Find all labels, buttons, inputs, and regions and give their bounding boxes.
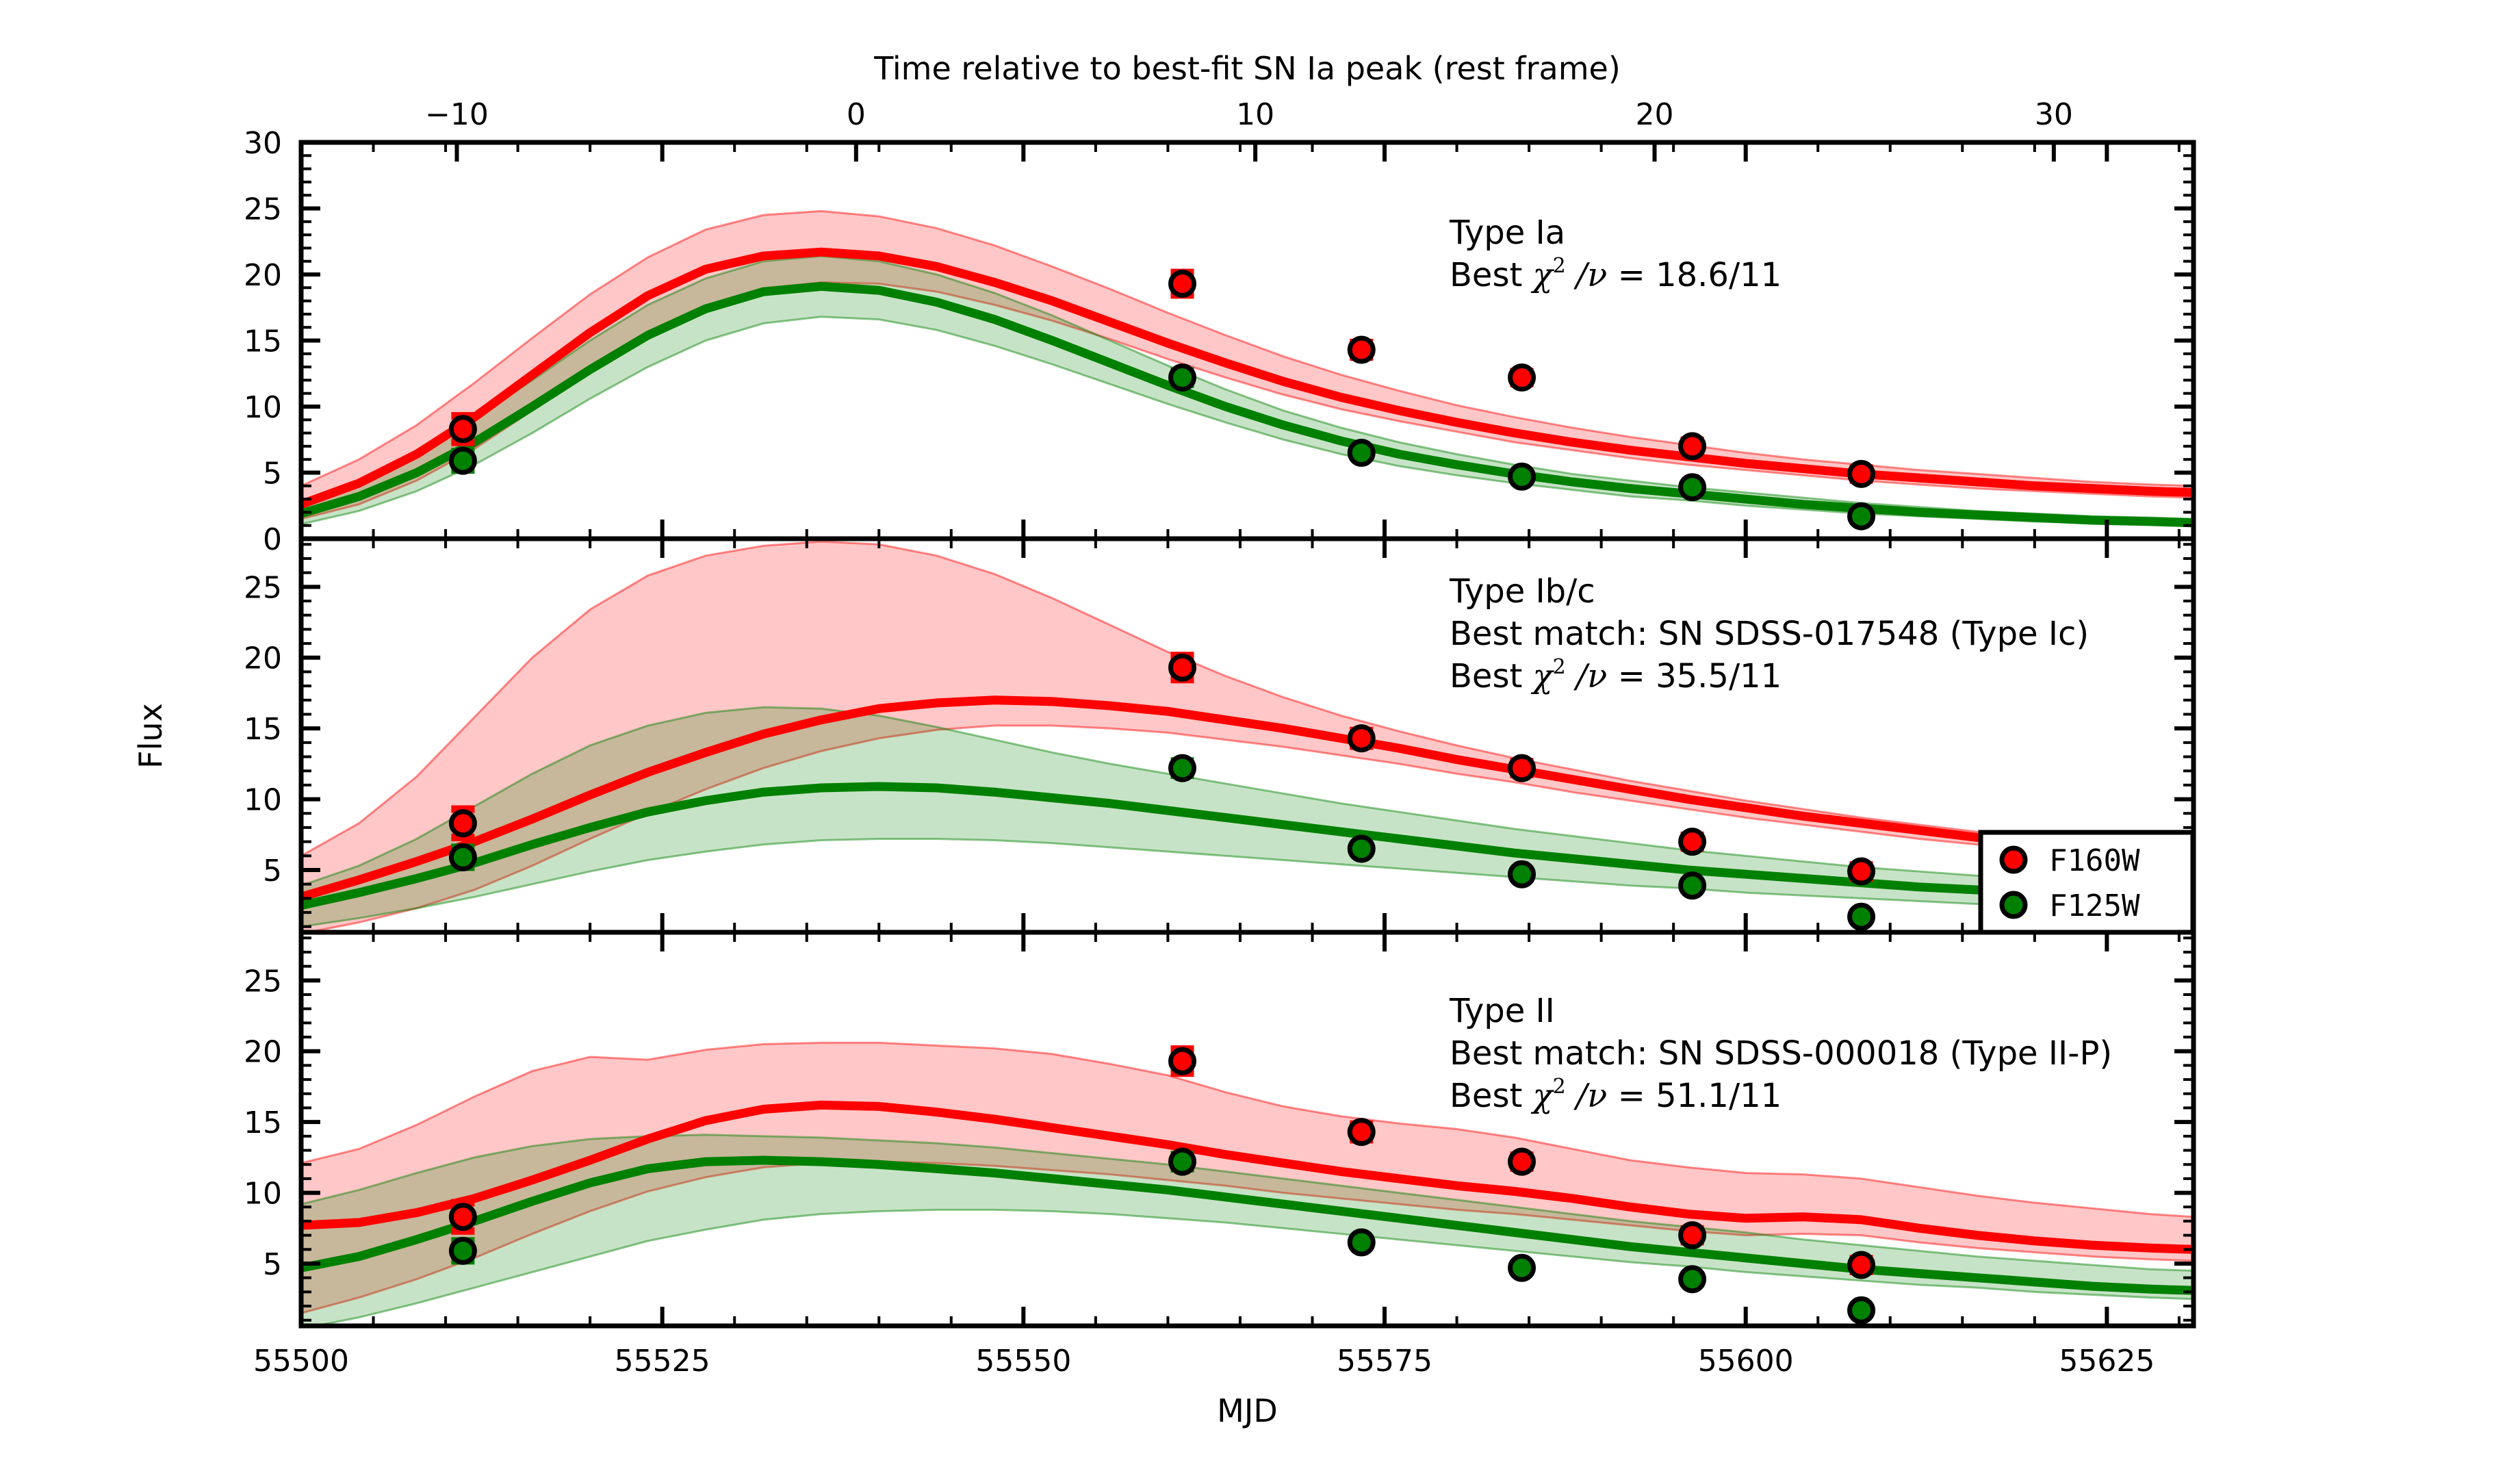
y-tick-label: 15 (244, 1105, 282, 1140)
data-point-F160W (1681, 435, 1704, 458)
data-point-F160W (1171, 272, 1194, 296)
data-point-F125W (1510, 1256, 1534, 1279)
x-tick-label: 55550 (975, 1344, 1071, 1379)
data-point-F125W (1350, 837, 1373, 860)
y-tick-label: 20 (244, 641, 282, 676)
data-point-F160W (1171, 1049, 1194, 1073)
data-point-F160W (1510, 1150, 1534, 1173)
data-point-F125W (1510, 862, 1534, 886)
y-tick-label: 10 (244, 390, 282, 425)
annotation-type-ii-1: Best match: SN SDSS-000018 (Type II-P) (1450, 1034, 2112, 1073)
data-point-F160W (1850, 462, 1873, 485)
data-point-F160W (1681, 1224, 1704, 1247)
y-tick-label: 25 (244, 570, 282, 605)
data-point-F125W (451, 845, 474, 869)
data-point-F125W (451, 449, 474, 472)
y-tick-label: 5 (263, 1247, 282, 1282)
data-point-F125W (1171, 756, 1194, 780)
data-point-F125W (1350, 1231, 1373, 1254)
data-point-F125W (1681, 874, 1704, 897)
data-point-F125W (1850, 1299, 1873, 1322)
annotation-type-ibc-0: Type Ib/c (1449, 572, 1595, 611)
chi2-annotation-type-ia: Best χ2 /ν = 18.6/11 (1450, 254, 1782, 294)
legend-marker-F125W (2002, 893, 2025, 917)
data-point-F160W (1510, 756, 1534, 780)
annotation-type-ia-0: Type Ia (1449, 214, 1565, 252)
panel-type-ii: 510152025Type IIBest match: SN SDSS-0000… (244, 932, 2194, 1329)
figure-root: 051015202530Type IaBest χ2 /ν = 18.6/115… (0, 0, 2520, 1458)
panel-type-ia: 051015202530Type IaBest χ2 /ν = 18.6/11 (244, 126, 2194, 557)
data-point-F160W (1850, 860, 1873, 883)
x-tick-label: 55575 (1337, 1344, 1432, 1379)
y-tick-label: 10 (244, 783, 282, 818)
legend-marker-F160W (2002, 848, 2025, 871)
x-axis-title: MJD (1217, 1392, 1278, 1429)
data-point-F125W (1681, 476, 1704, 499)
y-tick-label: 20 (244, 258, 282, 293)
light-curve-figure: 051015202530Type IaBest χ2 /ν = 18.6/115… (0, 0, 2520, 1458)
y-tick-label: 25 (244, 192, 282, 227)
phase-tick-label: 10 (1236, 97, 1274, 132)
data-point-F125W (1171, 1150, 1194, 1173)
y-axis-title: Flux (132, 703, 169, 769)
data-point-F160W (1681, 830, 1704, 854)
data-point-F125W (451, 1239, 474, 1262)
data-point-F160W (451, 1203, 474, 1231)
data-point-F125W (1171, 366, 1194, 389)
x-tick-label: 55525 (615, 1344, 710, 1379)
data-point-F125W (1850, 504, 1873, 528)
x-tick-label: 55600 (1698, 1344, 1794, 1379)
chi2-annotation-type-ibc: Best χ2 /ν = 35.5/11 (1450, 655, 1782, 695)
phase-tick-label: 0 (847, 97, 866, 132)
annotation-type-ii-0: Type II (1449, 992, 1555, 1030)
data-point-F160W (1171, 656, 1194, 680)
phase-tick-label: −10 (425, 97, 489, 132)
y-tick-label: 15 (244, 712, 282, 747)
data-point-F125W (1350, 442, 1373, 465)
data-point-F160W (1850, 1253, 1873, 1277)
x-tick-label: 55500 (253, 1344, 349, 1379)
y-tick-label: 5 (263, 854, 282, 888)
top-axis-title: Time relative to best-fit SN Ia peak (re… (873, 50, 1621, 87)
uncertainty-band-type-ia-F125W (301, 256, 2194, 526)
phase-tick-label: 30 (2035, 97, 2073, 132)
legend[interactable]: F160WF125W (1981, 832, 2193, 932)
panel-type-ibc: 510152025Type Ib/cBest match: SN SDSS-01… (244, 539, 2194, 934)
data-point-F125W (1850, 905, 1873, 928)
y-tick-label: 15 (244, 324, 282, 359)
data-point-F160W (1350, 1121, 1373, 1144)
data-point-F160W (1510, 366, 1534, 389)
data-point-F160W (451, 809, 474, 837)
data-point-F160W (1350, 338, 1373, 361)
y-tick-label: 20 (244, 1035, 282, 1070)
legend-label-F125W: F125W (2049, 888, 2140, 923)
x-tick-label: 55625 (2059, 1344, 2155, 1379)
y-tick-label: 5 (263, 457, 282, 491)
annotation-type-ibc-1: Best match: SN SDSS-017548 (Type Ic) (1450, 615, 2089, 653)
y-tick-label: 0 (263, 522, 282, 557)
y-tick-label: 30 (244, 126, 282, 161)
chi2-annotation-type-ii: Best χ2 /ν = 51.1/11 (1450, 1075, 1782, 1115)
legend-label-F160W: F160W (2049, 843, 2140, 878)
data-point-F125W (1510, 465, 1534, 488)
data-point-F125W (1681, 1268, 1704, 1291)
y-tick-label: 10 (244, 1177, 282, 1212)
y-tick-label: 25 (244, 964, 282, 999)
data-point-F160W (1350, 727, 1373, 750)
data-point-F160W (451, 416, 474, 443)
phase-tick-label: 20 (1636, 97, 1674, 132)
